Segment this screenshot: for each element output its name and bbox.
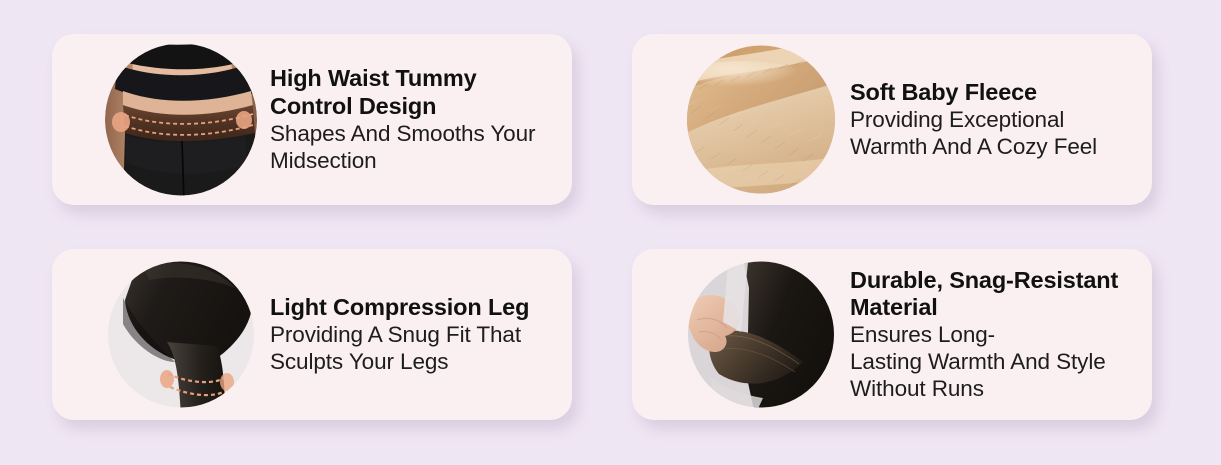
card-title: Light Compression Leg xyxy=(270,294,554,321)
card-subtitle: Ensures Long- Lasting Warmth And Style W… xyxy=(850,321,1134,402)
card-title: Soft Baby Fleece xyxy=(850,79,1134,106)
card-title: High Waist Tummy Control Design xyxy=(270,65,554,120)
high-waist-tummy-control-photo xyxy=(105,43,257,196)
card-text-block: Durable, Snag-Resistant Material Ensures… xyxy=(850,267,1138,403)
card-subtitle: Providing Exceptional Warmth And A Cozy … xyxy=(850,106,1134,160)
light-compression-leg-photo xyxy=(105,258,257,411)
card-subtitle: Providing A Snug Fit That Sculpts Your L… xyxy=(270,321,554,375)
card-text-block: High Waist Tummy Control Design Shapes A… xyxy=(270,65,558,174)
feature-card-grid: High Waist Tummy Control Design Shapes A… xyxy=(0,0,1221,465)
card-text-block: Soft Baby Fleece Providing Exceptional W… xyxy=(850,79,1138,160)
feature-card-durable-snag-resistant[interactable]: Durable, Snag-Resistant Material Ensures… xyxy=(632,249,1152,420)
feature-card-soft-baby-fleece[interactable]: Soft Baby Fleece Providing Exceptional W… xyxy=(632,34,1152,205)
soft-baby-fleece-photo xyxy=(685,43,837,196)
feature-card-light-compression-leg[interactable]: Light Compression Leg Providing A Snug F… xyxy=(52,249,572,420)
durable-snag-resistant-photo xyxy=(685,258,837,411)
card-text-block: Light Compression Leg Providing A Snug F… xyxy=(270,294,558,375)
feature-card-high-waist-tummy-control[interactable]: High Waist Tummy Control Design Shapes A… xyxy=(52,34,572,205)
card-title: Durable, Snag-Resistant Material xyxy=(850,267,1134,322)
card-subtitle: Shapes And Smooths Your Midsection xyxy=(270,120,554,174)
